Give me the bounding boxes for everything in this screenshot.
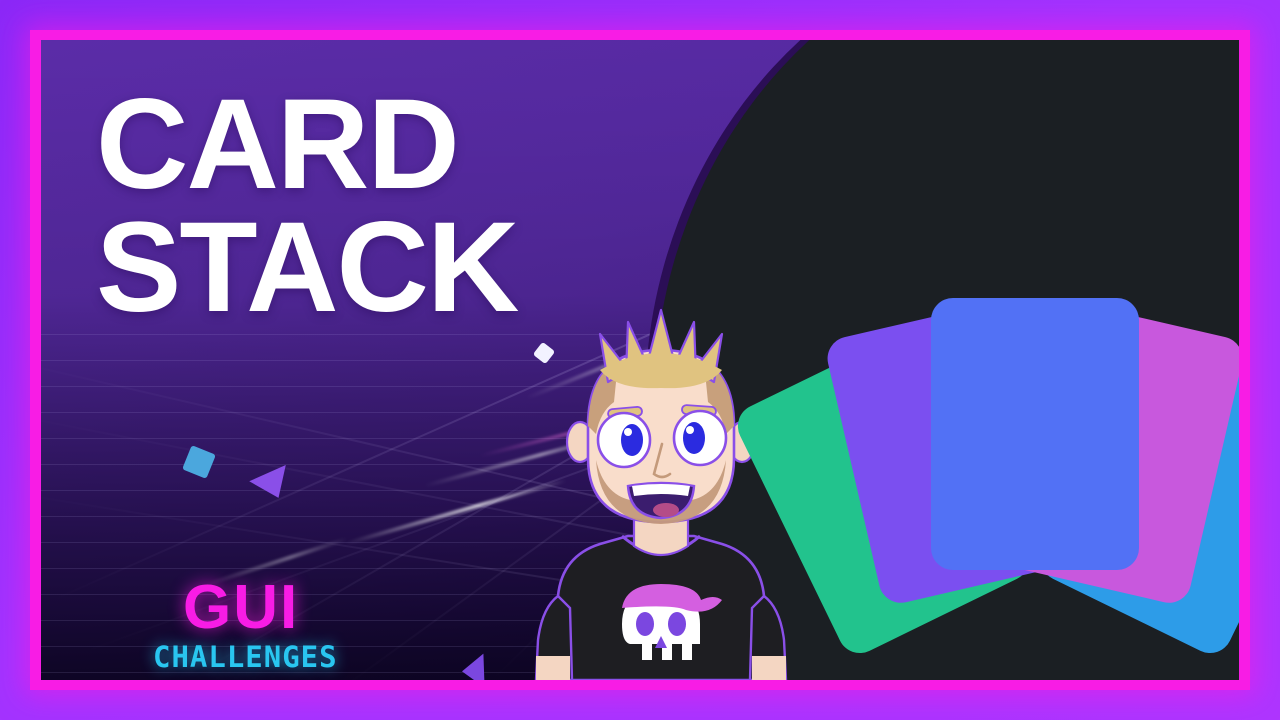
avatar-eye-left	[598, 413, 650, 467]
floating-shape-tri-2	[461, 654, 484, 680]
title-line-1: CARD	[96, 84, 517, 207]
logo-gui-text: GUI	[153, 580, 383, 636]
title-line-2: STACK	[96, 207, 517, 330]
page-title: CARD STACK	[96, 84, 517, 330]
avatar-eye-right	[674, 411, 726, 465]
avatar-hair-spikes	[600, 310, 722, 388]
card-stack[interactable]	[801, 280, 1239, 660]
brand-logo: GUI CHALLENGES	[153, 580, 383, 674]
stage: CARD STACK GUI CHALLENGES	[41, 40, 1239, 680]
logo-challenges-text: CHALLENGES	[153, 640, 383, 674]
thumbnail-canvas: CARD STACK GUI CHALLENGES	[0, 0, 1280, 720]
card-blue-top[interactable]	[931, 298, 1139, 570]
